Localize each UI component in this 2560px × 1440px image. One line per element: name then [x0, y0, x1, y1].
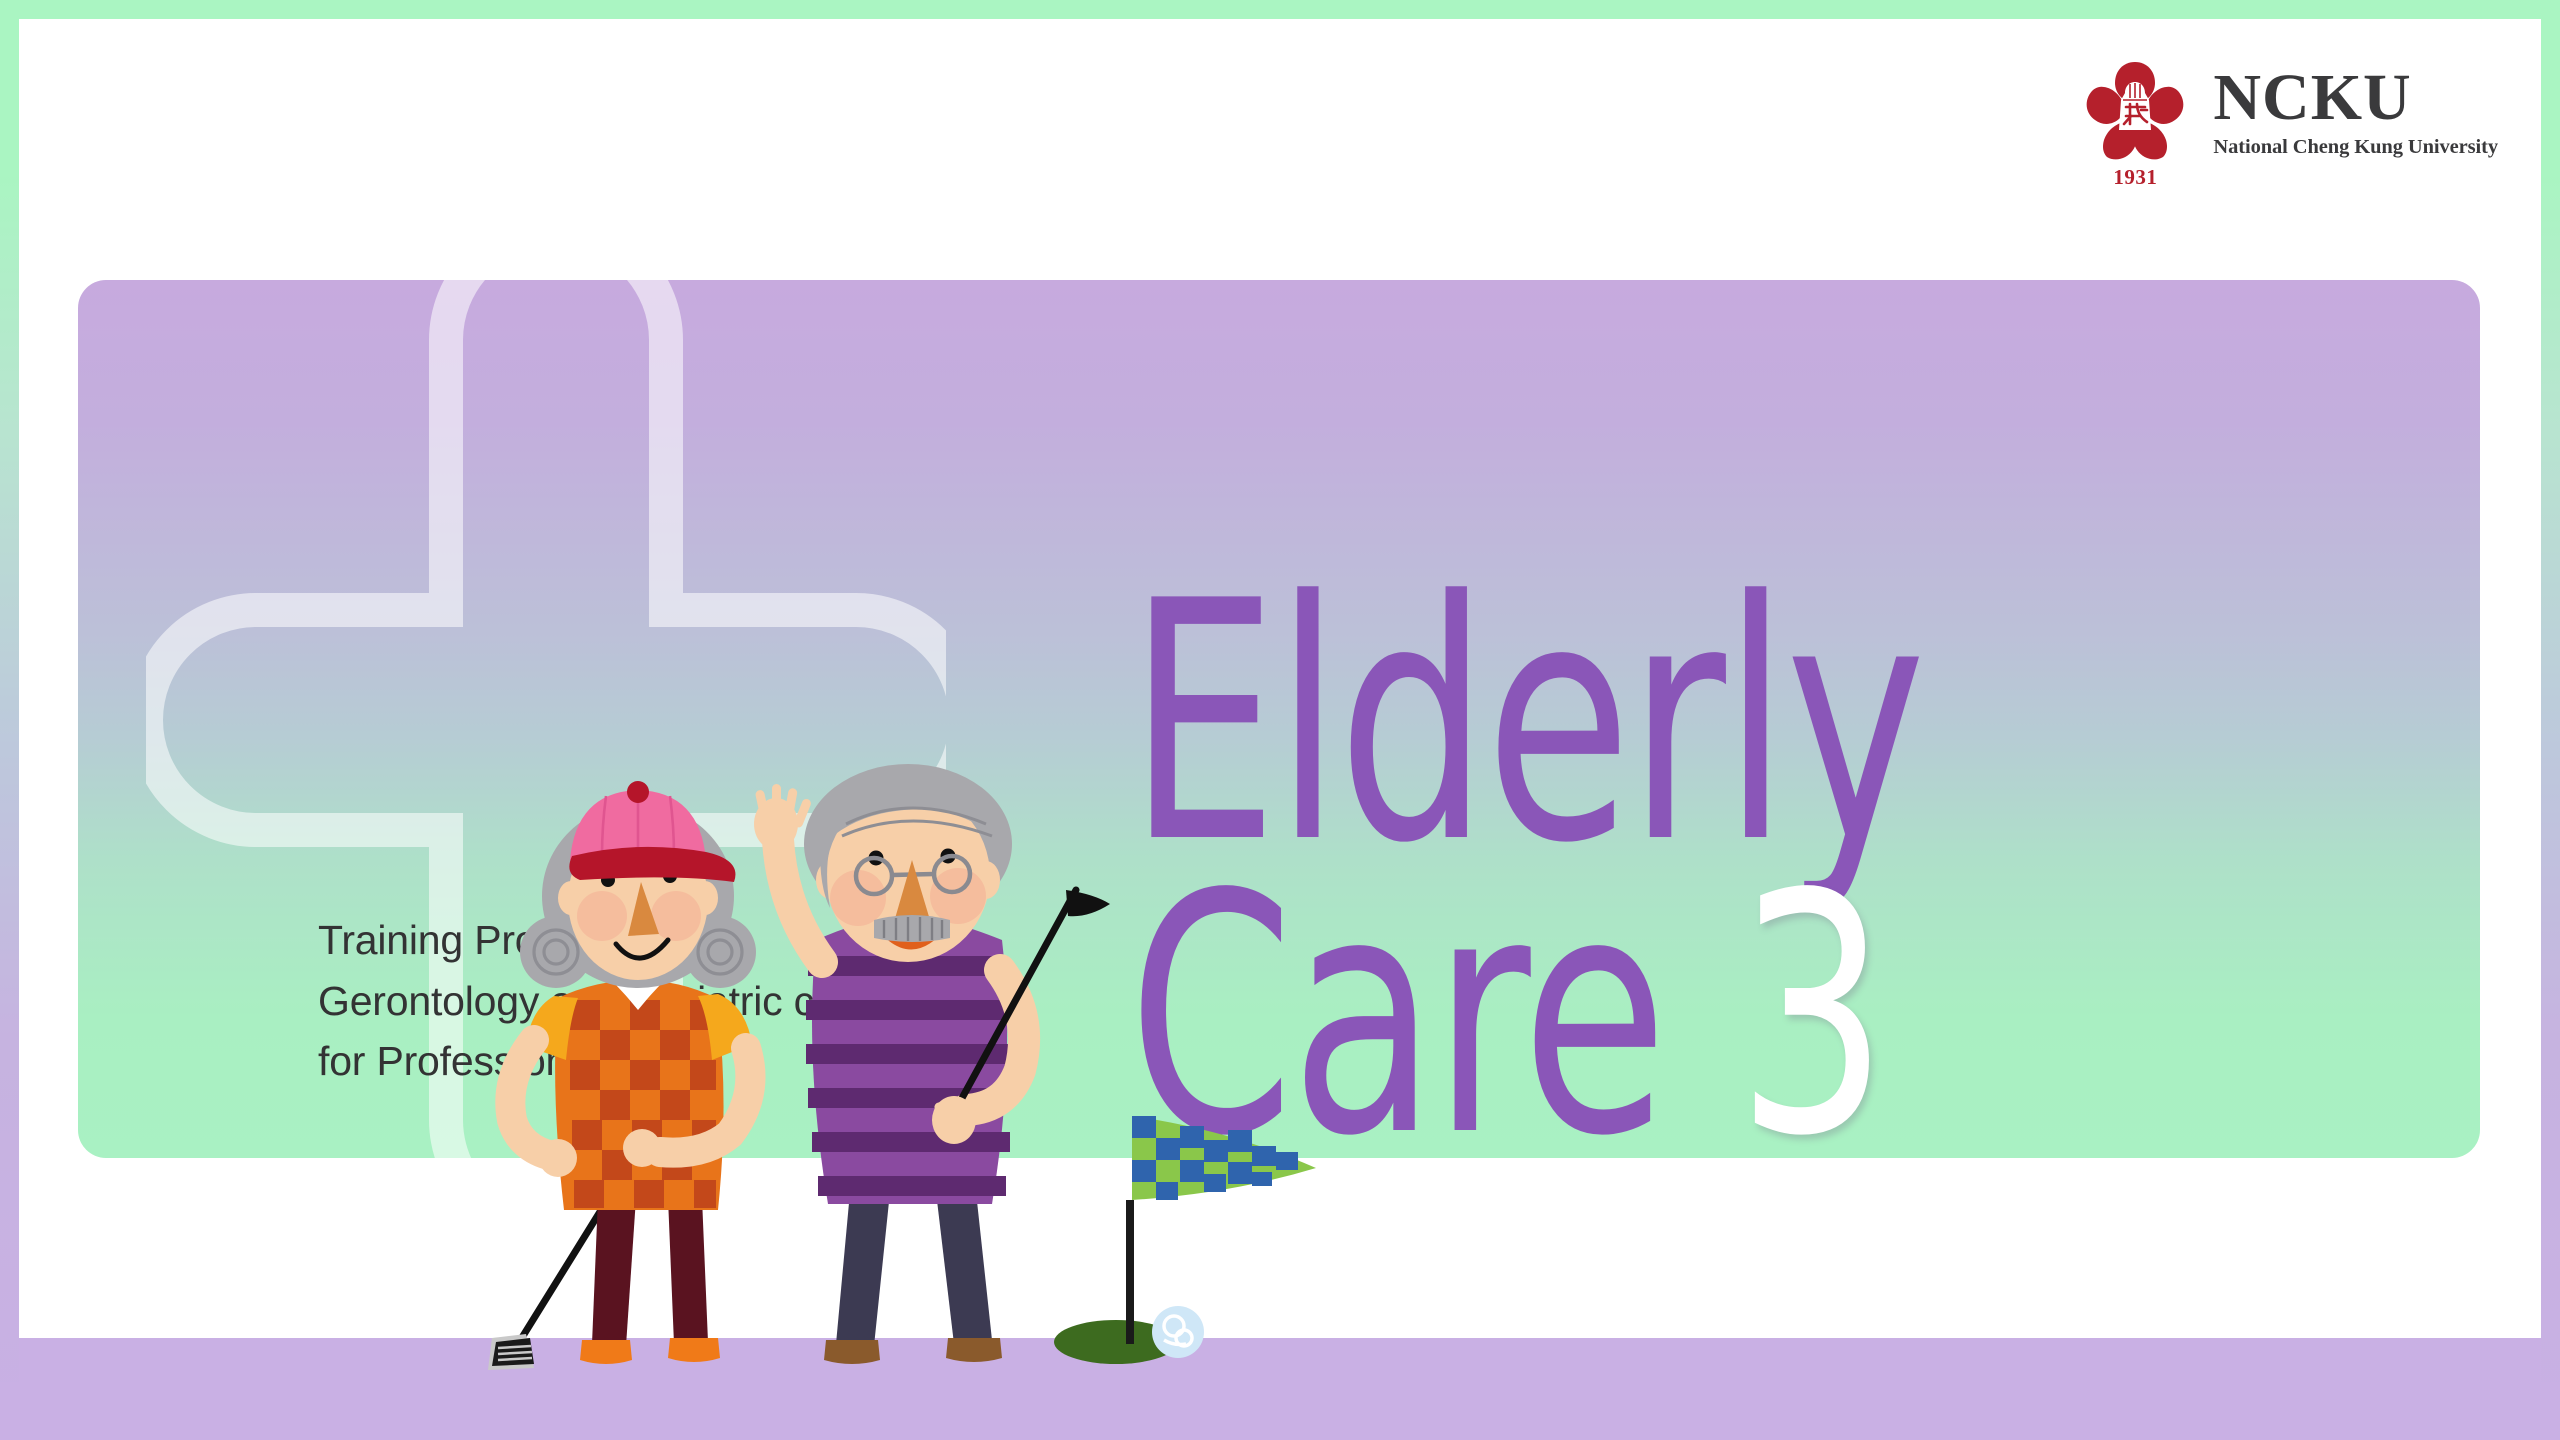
slide-canvas: 1931 NCKU National Cheng Kung University… [0, 0, 2560, 1440]
logo-founded-year: 1931 [2113, 165, 2157, 190]
frame-border-right [2541, 0, 2560, 1440]
frame-border-left [0, 0, 19, 1440]
ncku-logo: 1931 NCKU National Cheng Kung University [2079, 58, 2498, 190]
program-description: Training Program of Gerontology and Geri… [318, 910, 978, 1092]
title-word-care: Care [1128, 824, 1665, 1158]
golf-club-icon [488, 1144, 642, 1370]
frame-border-top [0, 0, 2560, 19]
logo-full-name: National Cheng Kung University [2213, 136, 2498, 159]
ground-strip [19, 1338, 2541, 1382]
program-line-3: for Professionals [318, 1031, 978, 1092]
program-line-1: Training Program of [318, 910, 978, 971]
logo-acronym: NCKU [2213, 66, 2498, 131]
frame-border-bottom [0, 1382, 2560, 1440]
title-number-3: 3 [1737, 824, 1885, 1158]
page-title: Elderly Care 3 [1128, 580, 2368, 1158]
logo-wordmark: NCKU National Cheng Kung University [2213, 58, 2498, 159]
ncku-plum-blossom-seal-icon: 1931 [2079, 58, 2191, 190]
hero-card: Training Program of Gerontology and Geri… [78, 280, 2480, 1158]
title-line-care: Care 3 [1128, 873, 2120, 1158]
program-line-2: Gerontology and Geriatric care [318, 971, 978, 1032]
